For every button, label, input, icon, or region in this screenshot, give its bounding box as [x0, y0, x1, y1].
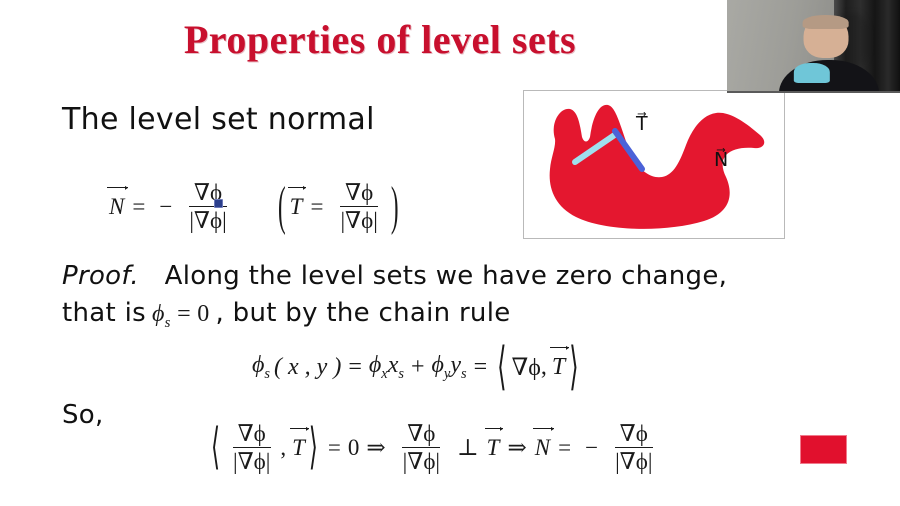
- tangent-vector-label: T⃗: [636, 113, 648, 136]
- proof-line-2-prefix: that is: [62, 298, 146, 328]
- phi-s-term: ϕs: [252, 352, 270, 383]
- vector-T-symbol-2: T: [486, 435, 501, 461]
- close-paren: ): [391, 177, 399, 238]
- angle-bracket-open: ⟨: [497, 336, 506, 398]
- subscript-s: s: [461, 366, 467, 382]
- fraction-denominator: |∇ϕ|: [610, 448, 657, 474]
- implies-arrow-2: ⇒: [507, 435, 526, 461]
- equation-chain-rule: ϕs ( x , y ) = ϕx xs + ϕy ys = ⟨ ∇ϕ , T …: [252, 352, 582, 383]
- fraction-denominator: |∇ϕ|: [398, 448, 445, 474]
- phi-symbol: ϕ: [152, 301, 165, 327]
- equals-sign: =: [132, 194, 145, 220]
- vector-T-symbol: T: [291, 435, 306, 461]
- proof-line-1-text: Along the level sets we have zero change…: [165, 261, 728, 291]
- argument-xy: ( x , y ): [274, 354, 341, 381]
- equals-zero: = 0: [177, 301, 209, 327]
- cursor-marker-icon: [214, 199, 223, 208]
- implies-arrow-1: ⇒: [366, 435, 385, 461]
- phi-x-term: ϕx: [369, 352, 388, 383]
- equation-tangent-definition: ( T = ∇ϕ |∇ϕ| ): [275, 181, 402, 234]
- comma: ,: [280, 435, 286, 461]
- proof-line-1: Proof. Along the level sets we have zero…: [62, 261, 727, 291]
- equals-sign-2: =: [474, 354, 488, 381]
- equals-sign-2: =: [558, 435, 571, 461]
- zero-value: 0: [348, 435, 360, 461]
- equals-sign-1: =: [348, 354, 362, 381]
- comma: ,: [541, 354, 547, 381]
- angle-bracket-open: ⟨: [211, 420, 220, 476]
- level-set-blob-shape: [550, 105, 765, 229]
- equals-sign-1: =: [328, 435, 341, 461]
- plus-sign: +: [411, 354, 425, 381]
- phi-symbol: ϕ: [252, 352, 264, 378]
- angle-bracket-close: ⟩: [309, 420, 318, 476]
- normal-vector-label: N⃗: [714, 149, 728, 172]
- presenter-webcam-inset[interactable]: [727, 0, 900, 93]
- proof-line-2-text: , but by the chain rule: [216, 298, 511, 328]
- perpendicular-symbol: ⊥: [457, 435, 479, 461]
- level-set-diagram: T⃗ N⃗: [523, 90, 785, 239]
- vector-T-symbol: T: [289, 194, 304, 220]
- fraction-denominator: |∇ϕ|: [184, 207, 231, 233]
- proof-line-2: that is ϕs = 0 , but by the chain rule: [62, 298, 511, 332]
- x-s-term: xs: [388, 352, 404, 383]
- vector-T-symbol: T: [551, 354, 566, 381]
- vector-N-symbol: N: [534, 435, 551, 461]
- minus-sign: −: [585, 435, 598, 461]
- gradient-phi: ∇ϕ: [512, 353, 541, 382]
- equation-final: ⟨ ∇ϕ |∇ϕ| , T ⟩ = 0 ⇒ ∇ϕ |∇ϕ| ⊥ T ⇒ N = …: [208, 422, 662, 475]
- fraction-grad-over-norm-3: ∇ϕ |∇ϕ|: [610, 422, 657, 475]
- fraction-denominator: |∇ϕ|: [335, 207, 382, 233]
- slide-title: Properties of level sets: [0, 16, 760, 63]
- fraction-numerator: ∇ϕ: [233, 422, 271, 448]
- minus-sign: −: [159, 194, 172, 220]
- fraction-grad-over-norm-1: ∇ϕ |∇ϕ|: [228, 422, 275, 475]
- subscript-s: s: [398, 366, 404, 382]
- inline-math-phi-s-equals-zero: ϕs = 0: [152, 301, 210, 332]
- phi-symbol: ϕ: [369, 352, 381, 378]
- vector-N-symbol: N: [108, 194, 125, 220]
- phi-symbol: ϕ: [432, 352, 444, 378]
- fraction-grad-over-norm: ∇ϕ |∇ϕ|: [184, 181, 231, 234]
- open-paren: (: [278, 177, 286, 238]
- x-symbol: x: [388, 352, 399, 378]
- presenter-hair: [802, 15, 849, 30]
- presenter-collar: [794, 63, 830, 83]
- level-set-shape-svg: [524, 91, 783, 237]
- y-s-term: ys: [450, 352, 466, 383]
- red-rectangle-marker: [800, 435, 847, 464]
- angle-bracket-close: ⟩: [569, 336, 578, 398]
- fraction-denominator: |∇ϕ|: [228, 448, 275, 474]
- so-label: So,: [62, 400, 104, 430]
- equals-sign: =: [310, 194, 323, 220]
- proof-keyword: Proof.: [62, 261, 139, 291]
- slide-subtitle: The level set normal: [62, 103, 375, 136]
- fraction-numerator: ∇ϕ: [615, 422, 653, 448]
- presentation-slide: Properties of level sets The level set n…: [0, 0, 900, 506]
- fraction-numerator: ∇ϕ: [340, 181, 378, 207]
- phi-y-term: ϕy: [432, 352, 451, 383]
- fraction-grad-over-norm-2: ∇ϕ |∇ϕ|: [398, 422, 445, 475]
- fraction-numerator: ∇ϕ: [402, 422, 440, 448]
- fraction-grad-over-norm: ∇ϕ |∇ϕ|: [335, 181, 382, 234]
- y-symbol: y: [450, 352, 461, 378]
- subscript-s: s: [264, 366, 270, 382]
